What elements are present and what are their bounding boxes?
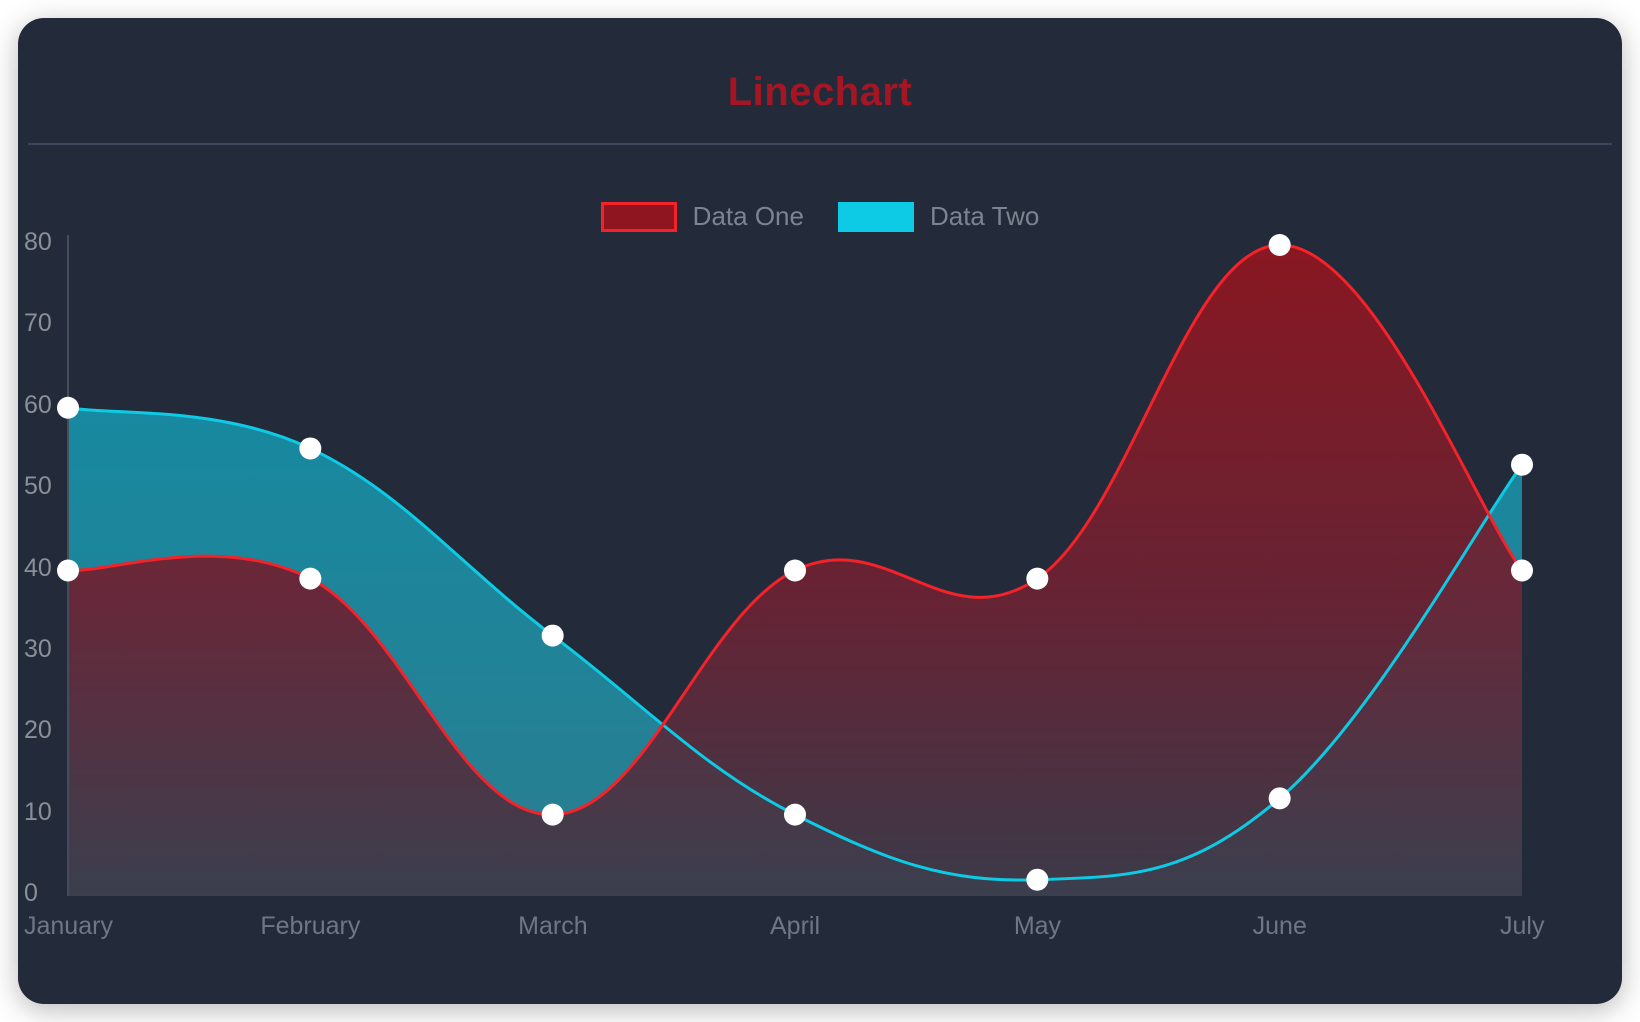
data-point[interactable] bbox=[57, 397, 79, 419]
y-axis-tick-label: 10 bbox=[24, 798, 52, 827]
x-axis-tick-label: May bbox=[1014, 912, 1061, 941]
y-axis-tick-label: 0 bbox=[24, 879, 38, 908]
x-axis-tick-label: March bbox=[518, 912, 587, 941]
y-axis-tick-label: 20 bbox=[24, 716, 52, 745]
data-point[interactable] bbox=[784, 804, 806, 826]
data-point[interactable] bbox=[57, 560, 79, 582]
data-point[interactable] bbox=[299, 437, 321, 459]
data-point[interactable] bbox=[542, 804, 564, 826]
data-point[interactable] bbox=[1269, 234, 1291, 256]
y-axis-tick-label: 30 bbox=[24, 635, 52, 664]
line-chart-plot bbox=[18, 18, 1622, 1004]
data-point[interactable] bbox=[1269, 787, 1291, 809]
data-point[interactable] bbox=[784, 560, 806, 582]
data-point[interactable] bbox=[1026, 869, 1048, 891]
y-axis-tick-label: 60 bbox=[24, 391, 52, 420]
x-axis-tick-label: April bbox=[770, 912, 820, 941]
data-point[interactable] bbox=[1026, 568, 1048, 590]
x-axis-tick-label: January bbox=[24, 912, 113, 941]
y-axis-tick-label: 50 bbox=[24, 472, 52, 501]
x-axis-tick-label: July bbox=[1500, 912, 1544, 941]
x-axis-tick-label: February bbox=[260, 912, 360, 941]
chart-card: Linechart Data One Data Two 0 bbox=[18, 18, 1622, 1004]
x-axis-tick-label: June bbox=[1253, 912, 1307, 941]
data-point[interactable] bbox=[542, 625, 564, 647]
y-axis-tick-label: 80 bbox=[24, 228, 52, 257]
data-point[interactable] bbox=[1511, 560, 1533, 582]
data-point[interactable] bbox=[299, 568, 321, 590]
data-point[interactable] bbox=[1511, 454, 1533, 476]
y-axis-tick-label: 40 bbox=[24, 554, 52, 583]
y-axis-tick-label: 70 bbox=[24, 309, 52, 338]
